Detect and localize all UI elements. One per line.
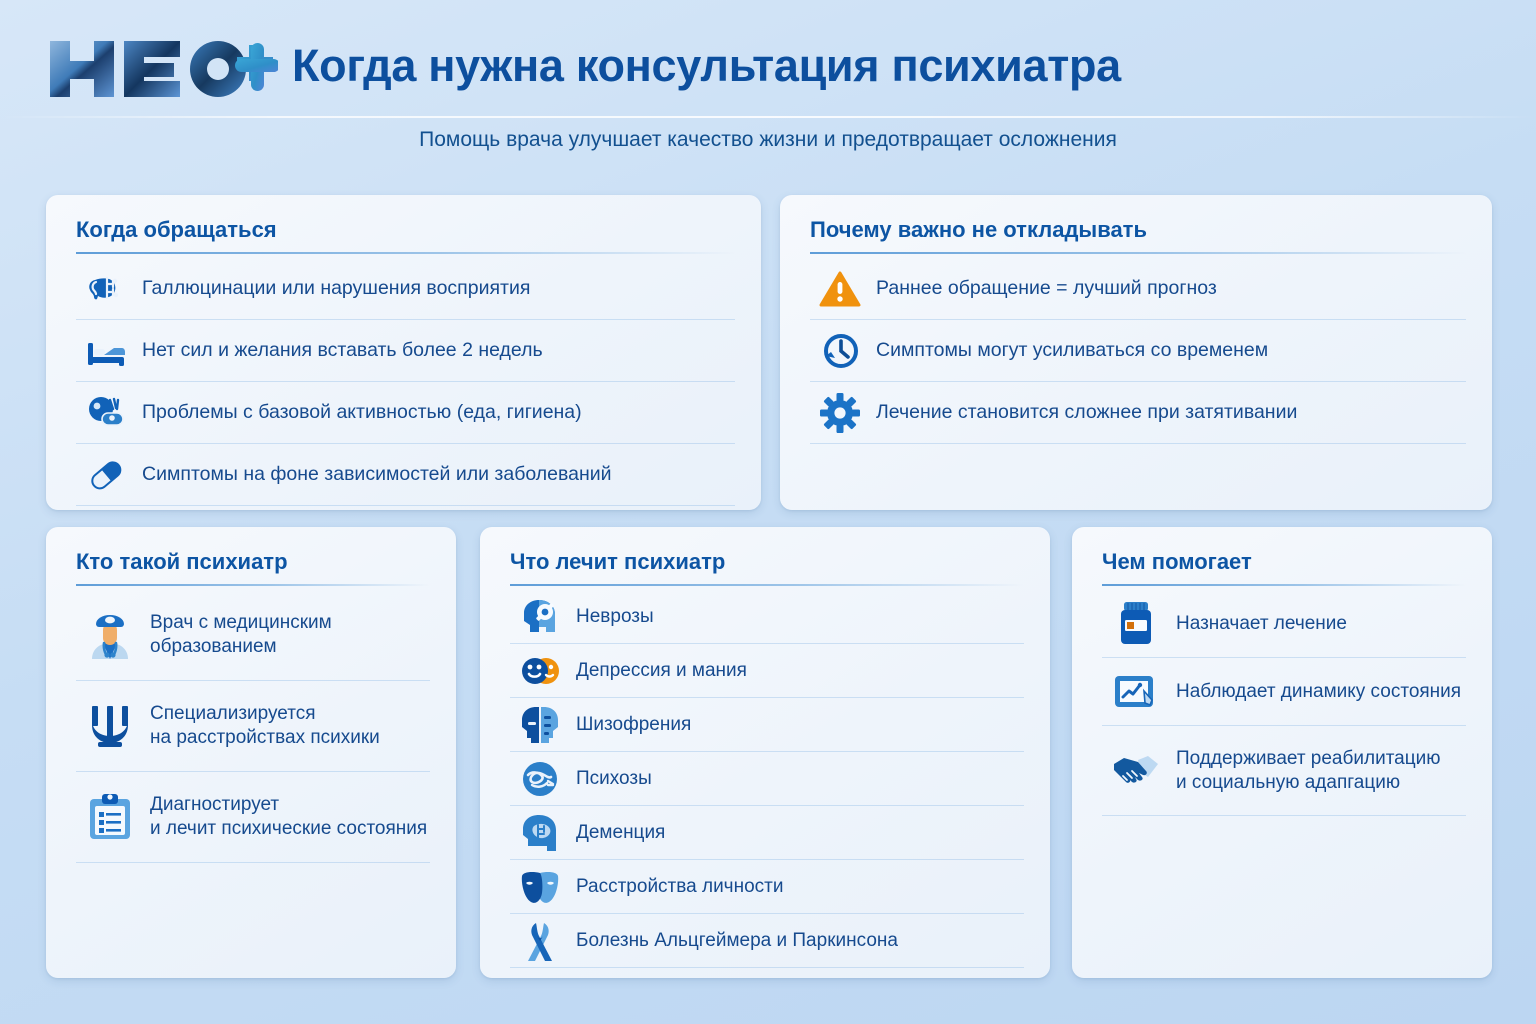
self-care-icon — [84, 391, 128, 435]
theatre-masks-icon — [518, 865, 562, 909]
card-title-underline — [810, 252, 1466, 254]
bed-icon — [84, 329, 128, 373]
list-item[interactable]: Поддерживает реабилитациюи социальную ад… — [1102, 726, 1466, 816]
list-item-label: Болезнь Альцгеймера и Паркинсона — [576, 929, 898, 953]
handshake-icon — [1110, 745, 1162, 797]
list-item[interactable]: Неврозы — [510, 590, 1024, 644]
list-item-label: Специализируетсяна расстройствах психики — [150, 702, 380, 749]
list-item-label: Врач с медицинскимобразованием — [150, 611, 332, 658]
chart-monitor-icon — [1110, 666, 1162, 718]
list-item-label: Расстройства личности — [576, 875, 783, 899]
list-item[interactable]: Наблюдает динамику состояния — [1102, 658, 1466, 726]
card-who-is-psychiatrist: Кто такой психиатр Врач с медицинскимобр… — [46, 527, 456, 978]
list-item[interactable]: Специализируетсяна расстройствах психики — [76, 681, 430, 772]
card-title-underline — [76, 252, 735, 254]
card-title-underline — [76, 584, 430, 586]
psi-symbol-icon — [84, 700, 136, 752]
neo-plus-logo — [46, 33, 278, 105]
page-header: Когда нужна консультация психиатра Помощ… — [0, 0, 1536, 178]
page-title: Когда нужна консультация психиатра — [292, 40, 1121, 92]
list-item-label: Неврозы — [576, 605, 654, 629]
list-item-label: Лечение становится сложнее при затятиван… — [876, 400, 1297, 424]
list-who: Врач с медицинскимобразованием Специализ… — [76, 590, 430, 863]
list-item[interactable]: Деменция — [510, 806, 1024, 860]
gear-icon — [818, 391, 862, 435]
page-subtitle: Помощь врача улучшает качество жизни и п… — [0, 128, 1536, 152]
two-faces-icon — [518, 649, 562, 693]
list-item-label: Диагностируети лечит психические состоян… — [150, 793, 427, 840]
list-item-label: Симптомы на фоне зависимостей или заболе… — [142, 462, 612, 486]
list-item-label: Симптомы могут усиливаться со временем — [876, 338, 1268, 362]
list-item-label: Раннее обращение = лучший прогноз — [876, 276, 1217, 300]
list-item[interactable]: Расстройства личности — [510, 860, 1024, 914]
list-item[interactable]: Назначает лечение — [1102, 590, 1466, 658]
list-item[interactable]: Симптомы на фоне зависимостей или заболе… — [76, 444, 735, 506]
list-item[interactable]: Галлюцинации или нарушения восприятия — [76, 258, 735, 320]
list-item-label: Депрессия и мания — [576, 659, 747, 683]
list-item[interactable]: Врач с медицинскимобразованием — [76, 590, 430, 681]
list-item-label: Нет сил и желания вставать более 2 недел… — [142, 338, 543, 362]
list-item[interactable]: Болезнь Альцгеймера и Паркинсона — [510, 914, 1024, 968]
card-title-underline — [1102, 584, 1466, 586]
brain-icon — [84, 267, 128, 311]
list-item-label: Шизофрения — [576, 713, 691, 737]
header-divider — [0, 116, 1536, 118]
list-item-label: Поддерживает реабилитациюи социальную ад… — [1176, 747, 1441, 794]
clock-icon — [818, 329, 862, 373]
list-why: Раннее обращение = лучший прогноз Симпто… — [810, 258, 1466, 444]
list-item[interactable]: Симптомы могут усиливаться со временем — [810, 320, 1466, 382]
clipboard-icon — [84, 791, 136, 843]
doctor-avatar-icon — [84, 609, 136, 661]
list-item[interactable]: Проблемы с базовой активностью (еда, гиг… — [76, 382, 735, 444]
list-helps: Назначает лечение Наблюдает динамику сос… — [1102, 590, 1466, 816]
split-head-icon — [518, 703, 562, 747]
head-brain-icon — [518, 811, 562, 855]
card-what-psychiatrist-treats: Что лечит психиатр Неврозы — [480, 527, 1050, 978]
list-item-label: Проблемы с базовой активностью (еда, гиг… — [142, 400, 582, 424]
head-gear-icon — [518, 595, 562, 639]
card-title: Почему важно не откладывать — [810, 217, 1466, 252]
tangled-mind-icon — [518, 757, 562, 801]
list-item[interactable]: Раннее обращение = лучший прогноз — [810, 258, 1466, 320]
list-item-label: Назначает лечение — [1176, 612, 1347, 636]
card-title: Чем помогает — [1102, 549, 1466, 584]
list-item[interactable]: Нет сил и желания вставать более 2 недел… — [76, 320, 735, 382]
pill-capsule-icon — [84, 453, 128, 497]
list-item-label: Психозы — [576, 767, 652, 791]
list-item[interactable]: Психозы — [510, 752, 1024, 806]
list-treats: Неврозы Депрессия и мания — [510, 590, 1024, 968]
awareness-ribbon-icon — [518, 919, 562, 963]
medicine-bottle-icon — [1110, 598, 1162, 650]
card-title: Кто такой психиатр — [76, 549, 430, 584]
card-title-underline — [510, 584, 1024, 586]
list-item[interactable]: Шизофрения — [510, 698, 1024, 752]
warning-triangle-icon — [818, 267, 862, 311]
list-item-label: Галлюцинации или нарушения восприятия — [142, 276, 530, 300]
list-when: Галлюцинации или нарушения восприятия Не… — [76, 258, 735, 506]
list-item[interactable]: Лечение становится сложнее при затятиван… — [810, 382, 1466, 444]
card-title: Когда обращаться — [76, 217, 735, 252]
list-item[interactable]: Депрессия и мания — [510, 644, 1024, 698]
list-item-label: Деменция — [576, 821, 665, 845]
card-when-to-seek-help: Когда обращаться Галлюцинации или наруше… — [46, 195, 761, 510]
list-item-label: Наблюдает динамику состояния — [1176, 680, 1461, 704]
card-title: Что лечит психиатр — [510, 549, 1024, 584]
card-why-not-delay: Почему важно не откладывать Раннее обращ… — [780, 195, 1492, 510]
list-item[interactable]: Диагностируети лечит психические состоян… — [76, 772, 430, 863]
card-how-helps: Чем помогает Назначает лечение — [1072, 527, 1492, 978]
